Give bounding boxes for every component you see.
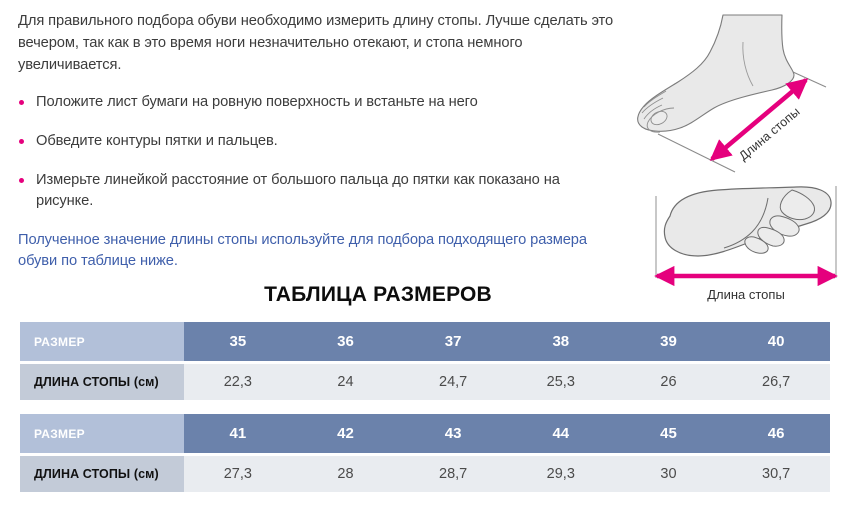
length-cell: 28 xyxy=(292,456,400,492)
length-cell: 26,7 xyxy=(722,364,830,400)
size-cell: 37 xyxy=(399,322,507,361)
size-cell: 40 xyxy=(722,322,830,361)
row-header-size: РАЗМЕР xyxy=(20,414,184,453)
foot-side-view-illustration: Длина стопы xyxy=(622,2,850,178)
length-cell: 30 xyxy=(615,456,723,492)
list-item: Положите лист бумаги на ровную поверхнос… xyxy=(18,92,618,113)
step-text: Измерьте линейкой расстояние от большого… xyxy=(36,172,560,209)
size-cell: 44 xyxy=(507,414,615,453)
length-cell: 28,7 xyxy=(399,456,507,492)
size-table-1: РАЗМЕР 35 36 37 38 39 40 ДЛИНА СТОПЫ (см… xyxy=(20,322,830,400)
size-cell: 39 xyxy=(615,322,723,361)
length-cell: 29,3 xyxy=(507,456,615,492)
length-cell: 26 xyxy=(615,364,723,400)
size-cell: 35 xyxy=(184,322,292,361)
instructions-panel: Для правильного подбора обуви необходимо… xyxy=(18,10,618,272)
bullet-dot-icon xyxy=(19,139,24,144)
table-row: РАЗМЕР 41 42 43 44 45 46 xyxy=(20,414,830,453)
length-cell: 22,3 xyxy=(184,364,292,400)
steps-list: Положите лист бумаги на ровную поверхнос… xyxy=(18,92,618,212)
bullet-dot-icon xyxy=(19,178,24,183)
size-cell: 38 xyxy=(507,322,615,361)
length-cell: 25,3 xyxy=(507,364,615,400)
step-text: Обведите контуры пятки и пальцев. xyxy=(36,133,278,149)
size-cell: 45 xyxy=(615,414,723,453)
length-cell: 30,7 xyxy=(722,456,830,492)
note-paragraph: Полученное значение длины стопы использу… xyxy=(18,230,618,272)
bullet-dot-icon xyxy=(19,100,24,105)
list-item: Измерьте линейкой расстояние от большого… xyxy=(18,170,618,212)
list-item: Обведите контуры пятки и пальцев. xyxy=(18,131,618,152)
intro-paragraph: Для правильного подбора обуви необходимо… xyxy=(18,10,618,76)
table-row: РАЗМЕР 35 36 37 38 39 40 xyxy=(20,322,830,361)
step-text: Положите лист бумаги на ровную поверхнос… xyxy=(36,94,478,110)
table-row: ДЛИНА СТОПЫ (см) 22,3 24 24,7 25,3 26 26… xyxy=(20,364,830,400)
size-cell: 42 xyxy=(292,414,400,453)
row-header-size: РАЗМЕР xyxy=(20,322,184,361)
size-cell: 41 xyxy=(184,414,292,453)
size-cell: 36 xyxy=(292,322,400,361)
length-cell: 27,3 xyxy=(184,456,292,492)
page-title: ТАБЛИЦА РАЗМЕРОВ xyxy=(20,283,736,307)
row-header-foot-length: ДЛИНА СТОПЫ (см) xyxy=(20,364,184,400)
length-cell: 24,7 xyxy=(399,364,507,400)
size-cell: 46 xyxy=(722,414,830,453)
size-table-2: РАЗМЕР 41 42 43 44 45 46 ДЛИНА СТОПЫ (см… xyxy=(20,414,830,492)
table-row: ДЛИНА СТОПЫ (см) 27,3 28 28,7 29,3 30 30… xyxy=(20,456,830,492)
row-header-foot-length: ДЛИНА СТОПЫ (см) xyxy=(20,456,184,492)
length-cell: 24 xyxy=(292,364,400,400)
size-cell: 43 xyxy=(399,414,507,453)
